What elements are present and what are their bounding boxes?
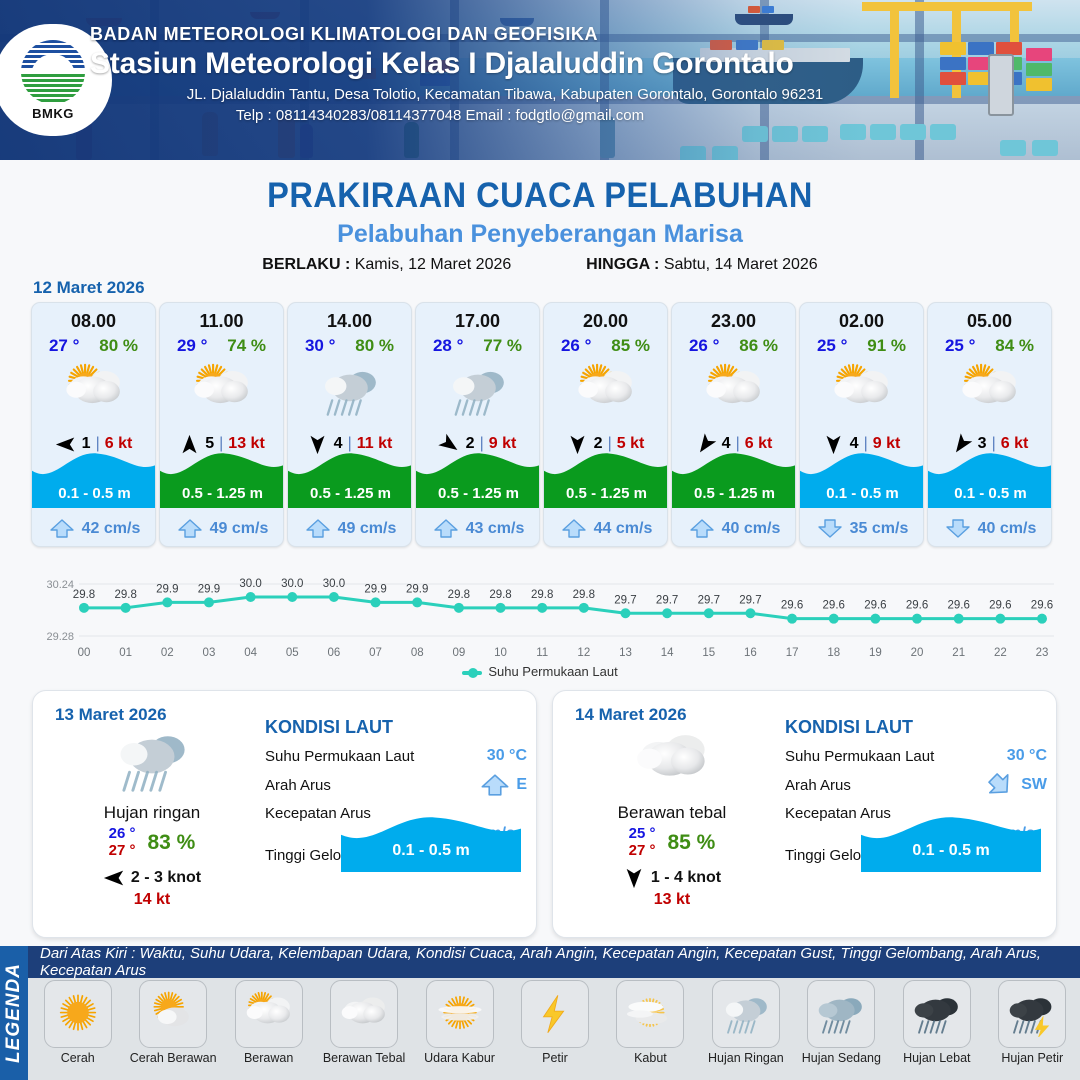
panel-gust: 14 kt	[47, 891, 257, 909]
petir-icon	[528, 991, 582, 1037]
svg-text:11: 11	[536, 647, 548, 659]
legend-icon-box	[903, 980, 971, 1048]
svg-text:29.6: 29.6	[906, 600, 928, 612]
card-weather-icon	[32, 363, 155, 419]
panel-humidity: 83 %	[147, 831, 195, 855]
page-header: BMKG BADAN METEOROLOGI KLIMATOLOGI DAN G…	[0, 0, 1080, 160]
hourly-date-label: 12 Maret 2026	[33, 278, 145, 298]
card-temperature: 25 °	[945, 336, 975, 356]
svg-text:30.0: 30.0	[239, 578, 261, 590]
current-direction-arrow-icon	[305, 519, 331, 538]
svg-text:29.28: 29.28	[46, 631, 74, 643]
value-current-direction: SW	[1021, 776, 1047, 794]
current-direction-arrow-icon	[480, 774, 510, 796]
card-weather-icon	[544, 363, 667, 419]
legend-item: Kabut	[604, 980, 696, 1065]
berawan-icon	[61, 363, 127, 420]
svg-text:21: 21	[952, 647, 965, 659]
daily-forecast-panels: 13 Maret 2026 Hujan ringan 26 ° 27 ° 83 …	[32, 690, 1057, 938]
panel-weather-icon	[567, 725, 777, 797]
legend-item-label: Hujan Lebat	[891, 1051, 983, 1065]
hourly-card: 02.00 25 ° 91 % 4 | 9 kt 0.1 - 0.5 m 35 …	[799, 302, 924, 547]
hourly-card: 23.00 26 ° 86 % 4 | 6 kt 0.5 - 1.25 m 40…	[671, 302, 796, 547]
card-humidity: 80 %	[99, 336, 138, 356]
berawan-icon	[701, 363, 767, 420]
legend-item: Hujan Ringan	[700, 980, 792, 1065]
berawan-icon	[957, 363, 1023, 420]
panel-temp-max: 27 °	[629, 843, 656, 860]
svg-text:29.8: 29.8	[573, 589, 595, 601]
value-sst: 30 °C	[487, 747, 527, 765]
panel-wave-height: 0.1 - 0.5 m	[341, 842, 521, 860]
card-wave-height: 0.5 - 1.25 m	[672, 485, 796, 502]
legend-item-label: Cerah Berawan	[127, 1051, 219, 1065]
legend-item-label: Udara Kabur	[414, 1051, 506, 1065]
card-humidity: 84 %	[995, 336, 1034, 356]
berawan-icon	[573, 363, 639, 420]
panel-temp-max: 27 °	[109, 843, 136, 860]
legend-icon-box	[616, 980, 684, 1048]
card-current-speed: 49 cm/s	[338, 520, 397, 538]
card-current: 42 cm/s	[32, 519, 156, 538]
legend-icon-box	[330, 980, 398, 1048]
berawan-icon	[829, 363, 895, 420]
card-humidity: 80 %	[355, 336, 394, 356]
svg-text:04: 04	[244, 647, 257, 659]
hourly-card: 05.00 25 ° 84 % 3 | 6 kt 0.1 - 0.5 m 40 …	[927, 302, 1052, 547]
card-humidity: 77 %	[483, 336, 522, 356]
card-temperature: 25 °	[817, 336, 847, 356]
value-current-direction: E	[516, 776, 527, 794]
card-time: 14.00	[288, 311, 411, 332]
hingga-label: HINGGA :	[586, 256, 659, 273]
card-temperature: 30 °	[305, 336, 335, 356]
svg-text:13: 13	[619, 647, 632, 659]
svg-text:16: 16	[744, 647, 757, 659]
card-wave-height: 0.5 - 1.25 m	[416, 485, 540, 502]
legend-icon-box	[235, 980, 303, 1048]
legend-icon-box	[998, 980, 1066, 1048]
svg-text:01: 01	[119, 647, 132, 659]
card-current-speed: 42 cm/s	[82, 520, 141, 538]
card-temperature: 26 °	[689, 336, 719, 356]
card-weather-icon	[160, 363, 283, 419]
hourly-card: 17.00 28 ° 77 % 2 | 9 kt 0.5 - 1.25 m 43…	[415, 302, 540, 547]
panel-condition: Berawan tebal	[567, 803, 777, 823]
card-time: 17.00	[416, 311, 539, 332]
current-direction-arrow-icon	[817, 519, 843, 538]
card-weather-icon	[416, 363, 539, 419]
panel-temp-min: 26 °	[109, 826, 136, 843]
legend-items: Cerah Cerah Berawan Berawan Berawan Teba…	[30, 980, 1080, 1080]
label-sst: Suhu Permukaan Laut	[265, 748, 414, 765]
current-direction-arrow-icon	[945, 519, 971, 538]
page-subtitle: Pelabuhan Penyeberangan Marisa	[0, 220, 1080, 249]
panel-wave-graphic	[861, 810, 1041, 872]
card-humidity: 85 %	[611, 336, 650, 356]
card-humidity: 91 %	[867, 336, 906, 356]
berlaku-value: Kamis, 12 Maret 2026	[355, 256, 512, 273]
svg-text:30.0: 30.0	[281, 578, 303, 590]
cerah-icon	[51, 991, 105, 1037]
legend-icon-box	[426, 980, 494, 1048]
label-sst: Suhu Permukaan Laut	[785, 748, 934, 765]
daily-panel: 13 Maret 2026 Hujan ringan 26 ° 27 ° 83 …	[32, 690, 537, 938]
svg-text:17: 17	[786, 647, 799, 659]
svg-text:29.7: 29.7	[614, 594, 636, 606]
chart-legend: Suhu Permukaan Laut	[0, 664, 1080, 679]
svg-text:18: 18	[827, 647, 840, 659]
svg-text:10: 10	[494, 647, 507, 659]
svg-text:07: 07	[369, 647, 382, 659]
title-block: PRAKIRAAN CUACA PELABUHAN Pelabuhan Peny…	[0, 160, 1080, 274]
agency-name: BADAN METEOROLOGI KLIMATOLOGI DAN GEOFIS…	[90, 24, 970, 45]
svg-text:29.6: 29.6	[1031, 600, 1053, 612]
card-temperature: 26 °	[561, 336, 591, 356]
svg-text:29.9: 29.9	[198, 583, 220, 595]
card-time: 20.00	[544, 311, 667, 332]
card-current-speed: 40 cm/s	[978, 520, 1037, 538]
legend-item: Cerah Berawan	[127, 980, 219, 1065]
current-direction-arrow-icon	[177, 519, 203, 538]
panel-humidity: 85 %	[667, 831, 715, 855]
svg-text:06: 06	[328, 647, 341, 659]
panel-condition: Hujan ringan	[47, 803, 257, 823]
legend-item-label: Berawan Tebal	[318, 1051, 410, 1065]
hujan-lebat-icon	[910, 991, 964, 1037]
card-weather-icon	[928, 363, 1051, 419]
svg-text:14: 14	[661, 647, 674, 659]
legend-item: Hujan Lebat	[891, 980, 983, 1065]
card-wave-height: 0.5 - 1.25 m	[288, 485, 412, 502]
label-current-direction: Arah Arus	[265, 777, 331, 794]
panel-temp-min: 25 °	[629, 826, 656, 843]
svg-text:15: 15	[702, 647, 715, 659]
hourly-forecast-row: 08.00 27 ° 80 % 1 | 6 kt 0.1 - 0.5 m 42 …	[31, 302, 1055, 547]
legend-item: Petir	[509, 980, 601, 1065]
sst-chart: 30.2429.2829.80029.80129.90229.90330.004…	[22, 558, 1060, 678]
station-address: JL. Djalaluddin Tantu, Desa Tolotio, Kec…	[90, 86, 920, 103]
hujan-ringan-icon	[445, 363, 511, 420]
svg-text:00: 00	[78, 647, 91, 659]
card-weather-icon	[288, 363, 411, 419]
wave-shape	[341, 810, 521, 872]
station-name: Stasiun Meteorologi Kelas I Djalaluddin …	[90, 47, 970, 81]
panel-wave-graphic	[341, 810, 521, 872]
svg-text:29.8: 29.8	[114, 589, 136, 601]
berawan-icon	[189, 363, 255, 420]
svg-text:29.8: 29.8	[531, 589, 553, 601]
svg-text:29.8: 29.8	[489, 589, 511, 601]
card-weather-icon	[672, 363, 795, 419]
bmkg-logo-icon	[21, 40, 85, 104]
current-direction-arrow-icon	[49, 519, 75, 538]
panel-date: 13 Maret 2026	[55, 705, 167, 725]
hujan-ringan-icon	[719, 991, 773, 1037]
berawan-icon	[242, 991, 296, 1037]
berawan-tebal-icon	[630, 725, 714, 797]
panel-weather-icon	[47, 725, 257, 797]
cerah-berawan-icon	[146, 991, 200, 1037]
current-direction-arrow-icon	[561, 519, 587, 538]
value-sst: 30 °C	[1007, 747, 1047, 765]
card-temperature: 28 °	[433, 336, 463, 356]
legend-side-label: LEGENDA	[0, 946, 28, 1080]
card-current-speed: 40 cm/s	[722, 520, 781, 538]
station-contact: Telp : 08114340283/08114377048 Email : f…	[90, 107, 790, 124]
hingga-value: Sabtu, 14 Maret 2026	[664, 256, 818, 273]
svg-text:20: 20	[911, 647, 924, 659]
legend-icon-box	[44, 980, 112, 1048]
legend-item-label: Cerah	[32, 1051, 124, 1065]
svg-text:29.8: 29.8	[73, 589, 95, 601]
card-time: 11.00	[160, 311, 283, 332]
legend-item-label: Hujan Sedang	[795, 1051, 887, 1065]
svg-text:19: 19	[869, 647, 882, 659]
legend-icon-box	[139, 980, 207, 1048]
svg-text:29.6: 29.6	[989, 600, 1011, 612]
svg-text:30.24: 30.24	[46, 579, 74, 591]
chart-legend-swatch	[462, 671, 482, 675]
card-current-speed: 49 cm/s	[210, 520, 269, 538]
card-temperature: 27 °	[49, 336, 79, 356]
current-direction-arrow-icon	[689, 519, 715, 538]
card-current: 40 cm/s	[672, 519, 796, 538]
bmkg-logo-text: BMKG	[32, 106, 74, 121]
legend-item-label: Kabut	[604, 1051, 696, 1065]
svg-text:09: 09	[452, 647, 465, 659]
card-wave-height: 0.1 - 0.5 m	[928, 485, 1052, 502]
hourly-card: 14.00 30 ° 80 % 4 | 11 kt 0.5 - 1.25 m 4…	[287, 302, 412, 547]
legend-item-label: Berawan	[223, 1051, 315, 1065]
card-temperature: 29 °	[177, 336, 207, 356]
validity-line: BERLAKU : Kamis, 12 Maret 2026 HINGGA : …	[0, 256, 1080, 274]
hourly-card: 20.00 26 ° 85 % 2 | 5 kt 0.5 - 1.25 m 44…	[543, 302, 668, 547]
svg-text:29.8: 29.8	[448, 589, 470, 601]
berawan-tebal-icon	[337, 991, 391, 1037]
legend-icon-box	[807, 980, 875, 1048]
current-direction-arrow-icon	[433, 519, 459, 538]
card-humidity: 74 %	[227, 336, 266, 356]
svg-text:30.0: 30.0	[323, 578, 345, 590]
legend-item: Hujan Sedang	[795, 980, 887, 1065]
chart-legend-label: Suhu Permukaan Laut	[488, 664, 617, 679]
wind-direction-arrow-icon	[623, 867, 645, 889]
hujan-sedang-icon	[814, 991, 868, 1037]
svg-text:23: 23	[1036, 647, 1049, 659]
legend-item: Berawan	[223, 980, 315, 1065]
card-current: 49 cm/s	[288, 519, 412, 538]
card-current-speed: 35 cm/s	[850, 520, 909, 538]
card-current: 43 cm/s	[416, 519, 540, 538]
panel-wind-range: 1 - 4 knot	[651, 869, 721, 887]
card-current-speed: 43 cm/s	[466, 520, 525, 538]
legend-item-label: Hujan Petir	[986, 1051, 1078, 1065]
legend-item: Cerah	[32, 980, 124, 1065]
berlaku-label: BERLAKU :	[262, 256, 350, 273]
sea-condition-title: KONDISI LAUT	[785, 717, 1047, 738]
card-time: 08.00	[32, 311, 155, 332]
svg-text:29.9: 29.9	[156, 583, 178, 595]
svg-text:29.7: 29.7	[656, 594, 678, 606]
card-wave-height: 0.1 - 0.5 m	[32, 485, 156, 502]
svg-text:29.6: 29.6	[864, 600, 886, 612]
legend-item: Udara Kabur	[414, 980, 506, 1065]
udara-kabur-icon	[433, 991, 487, 1037]
legend-item-label: Petir	[509, 1051, 601, 1065]
hujan-petir-icon	[1005, 991, 1059, 1037]
svg-text:12: 12	[577, 647, 590, 659]
legend-note: Dari Atas Kiri : Waktu, Suhu Udara, Kele…	[28, 946, 1080, 978]
svg-text:29.7: 29.7	[739, 594, 761, 606]
sea-condition-title: KONDISI LAUT	[265, 717, 527, 738]
card-weather-icon	[800, 363, 923, 419]
card-humidity: 86 %	[739, 336, 778, 356]
card-wave-height: 0.5 - 1.25 m	[544, 485, 668, 502]
legend-section: LEGENDA Dari Atas Kiri : Waktu, Suhu Uda…	[0, 946, 1080, 1080]
card-time: 02.00	[800, 311, 923, 332]
hujan-ringan-icon	[110, 725, 194, 797]
label-current-direction: Arah Arus	[785, 777, 851, 794]
svg-text:29.9: 29.9	[364, 583, 386, 595]
legend-item: Berawan Tebal	[318, 980, 410, 1065]
panel-wind-range: 2 - 3 knot	[131, 869, 201, 887]
card-time: 05.00	[928, 311, 1051, 332]
svg-text:29.6: 29.6	[781, 600, 803, 612]
daily-panel: 14 Maret 2026 Berawan tebal 25 ° 27 ° 85…	[552, 690, 1057, 938]
hourly-card: 08.00 27 ° 80 % 1 | 6 kt 0.1 - 0.5 m 42 …	[31, 302, 156, 547]
card-current: 40 cm/s	[928, 519, 1052, 538]
legend-icon-box	[712, 980, 780, 1048]
svg-text:03: 03	[203, 647, 216, 659]
panel-date: 14 Maret 2026	[575, 705, 687, 725]
svg-text:22: 22	[994, 647, 1007, 659]
svg-text:05: 05	[286, 647, 299, 659]
kabut-icon	[623, 991, 677, 1037]
page-title: PRAKIRAAN CUACA PELABUHAN	[38, 176, 1042, 216]
svg-text:29.7: 29.7	[698, 594, 720, 606]
card-wave-height: 0.1 - 0.5 m	[800, 485, 924, 502]
svg-text:02: 02	[161, 647, 174, 659]
card-current: 49 cm/s	[160, 519, 284, 538]
card-current: 44 cm/s	[544, 519, 668, 538]
panel-gust: 13 kt	[567, 891, 777, 909]
wave-shape	[861, 810, 1041, 872]
svg-text:29.9: 29.9	[406, 583, 428, 595]
svg-text:29.6: 29.6	[823, 600, 845, 612]
legend-icon-box	[521, 980, 589, 1048]
current-direction-arrow-icon	[985, 774, 1015, 796]
wind-direction-arrow-icon	[103, 867, 125, 889]
legend-item: Hujan Petir	[986, 980, 1078, 1065]
card-current-speed: 44 cm/s	[594, 520, 653, 538]
card-wave-height: 0.5 - 1.25 m	[160, 485, 284, 502]
panel-wave-height: 0.1 - 0.5 m	[861, 842, 1041, 860]
svg-text:29.6: 29.6	[948, 600, 970, 612]
hourly-card: 11.00 29 ° 74 % 5 | 13 kt 0.5 - 1.25 m 4…	[159, 302, 284, 547]
svg-text:08: 08	[411, 647, 424, 659]
legend-item-label: Hujan Ringan	[700, 1051, 792, 1065]
card-time: 23.00	[672, 311, 795, 332]
hujan-ringan-icon	[317, 363, 383, 420]
card-current: 35 cm/s	[800, 519, 924, 538]
